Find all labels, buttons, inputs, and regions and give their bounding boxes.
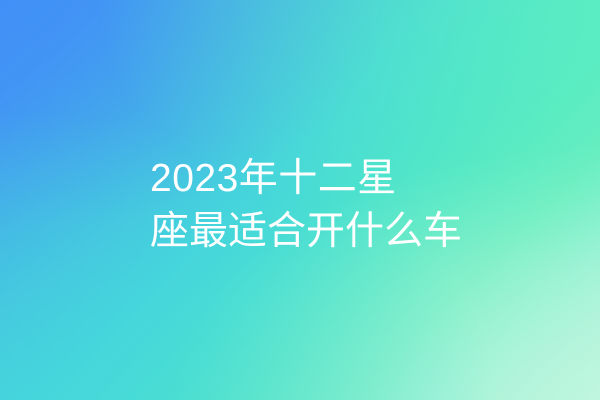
banner-title: 2023年十二星 座最适合开什么车 [150, 152, 450, 258]
banner-title-line-2: 座最适合开什么车 [150, 205, 450, 258]
banner-title-line-1: 2023年十二星 [150, 152, 450, 205]
gradient-banner: 2023年十二星 座最适合开什么车 [0, 0, 600, 400]
